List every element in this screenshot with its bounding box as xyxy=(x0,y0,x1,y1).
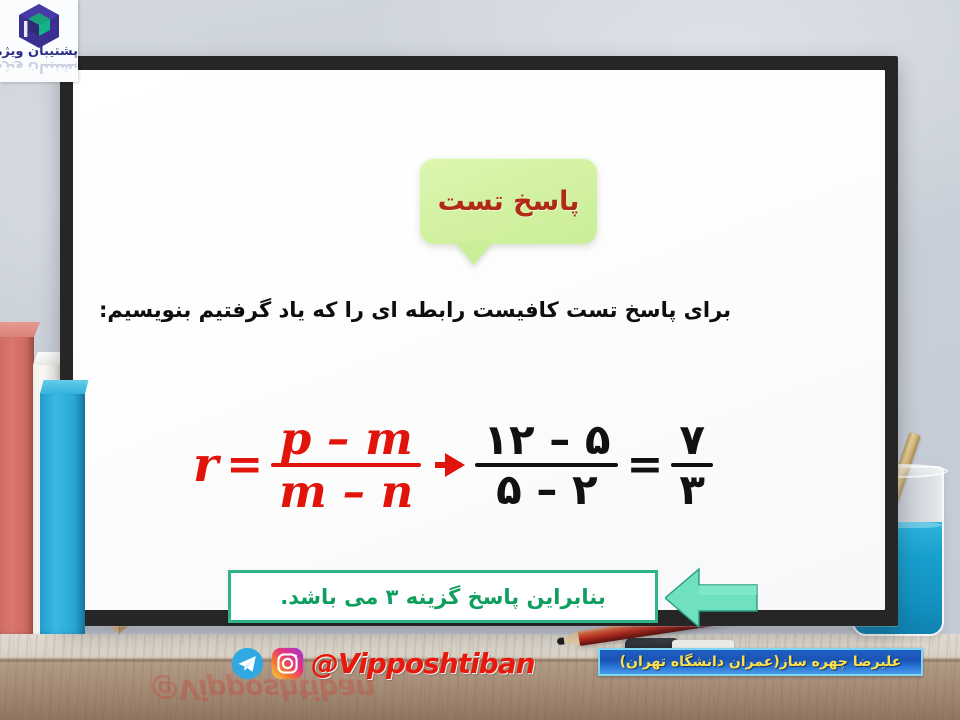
callout-tail xyxy=(456,243,492,265)
book-blue xyxy=(40,391,85,634)
right-arrow-icon xyxy=(435,462,461,468)
formula-equals-1: = xyxy=(226,443,263,487)
left-fraction-denominator: m – n xyxy=(271,467,421,516)
left-fraction-numerator: p – m xyxy=(272,414,421,463)
social-handle-reflection: @Vipposhtiban xyxy=(151,673,375,706)
formula-variable-r: r xyxy=(193,441,218,489)
slide-canvas: پاسخ تست برای پاسخ تست کافیست رابطه ای ر… xyxy=(0,0,960,720)
left-arrow-icon xyxy=(665,567,759,629)
book-red-top xyxy=(0,322,40,337)
result-fraction-numerator: ۷ xyxy=(671,417,713,463)
brand-logo-text: پشتیبان ویژه xyxy=(0,44,78,59)
answer-callout-bubble: پاسخ تست xyxy=(420,158,597,244)
pencil-lead xyxy=(557,637,565,645)
prompt-text: برای پاسخ تست کافیست رابطه ای را که یاد … xyxy=(95,298,735,322)
book-blue-top xyxy=(40,380,88,394)
hexagon-book-logo-icon xyxy=(16,3,62,49)
answer-callout-label: پاسخ تست xyxy=(420,158,597,244)
right-fraction-denominator: ۵ – ۲ xyxy=(488,467,606,513)
conclusion-box: بنابراین پاسخ گزینه ۳ می باشد. xyxy=(228,570,658,623)
conclusion-text: بنابراین پاسخ گزینه ۳ می باشد. xyxy=(280,585,605,609)
formula-right-fraction: ۱۲ – ۵ ۵ – ۲ xyxy=(475,417,618,513)
brand-logo-card[interactable]: پشتیبان ویژه پشتیبان ویژه xyxy=(0,0,78,82)
book-red xyxy=(0,334,34,634)
formula-row: r = p – m m – n ۱۲ – ۵ ۵ – ۲ = ۷ xyxy=(193,400,713,530)
formula-equals-2: = xyxy=(626,443,663,487)
formula-result-fraction: ۷ ۳ xyxy=(671,417,713,513)
brand-logo-text-reflection: پشتیبان ویژه xyxy=(0,60,78,75)
formula-left-fraction: p – m m – n xyxy=(271,414,421,516)
whiteboard-surface: پاسخ تست برای پاسخ تست کافیست رابطه ای ر… xyxy=(73,70,885,610)
result-fraction-denominator: ۳ xyxy=(671,467,713,513)
author-banner: علیرضا چهره ساز(عمران دانشگاه تهران) xyxy=(598,648,923,676)
right-fraction-numerator: ۱۲ – ۵ xyxy=(475,417,618,463)
whiteboard-frame: پاسخ تست برای پاسخ تست کافیست رابطه ای ر… xyxy=(60,56,898,626)
author-banner-label: علیرضا چهره ساز(عمران دانشگاه تهران) xyxy=(620,654,902,670)
